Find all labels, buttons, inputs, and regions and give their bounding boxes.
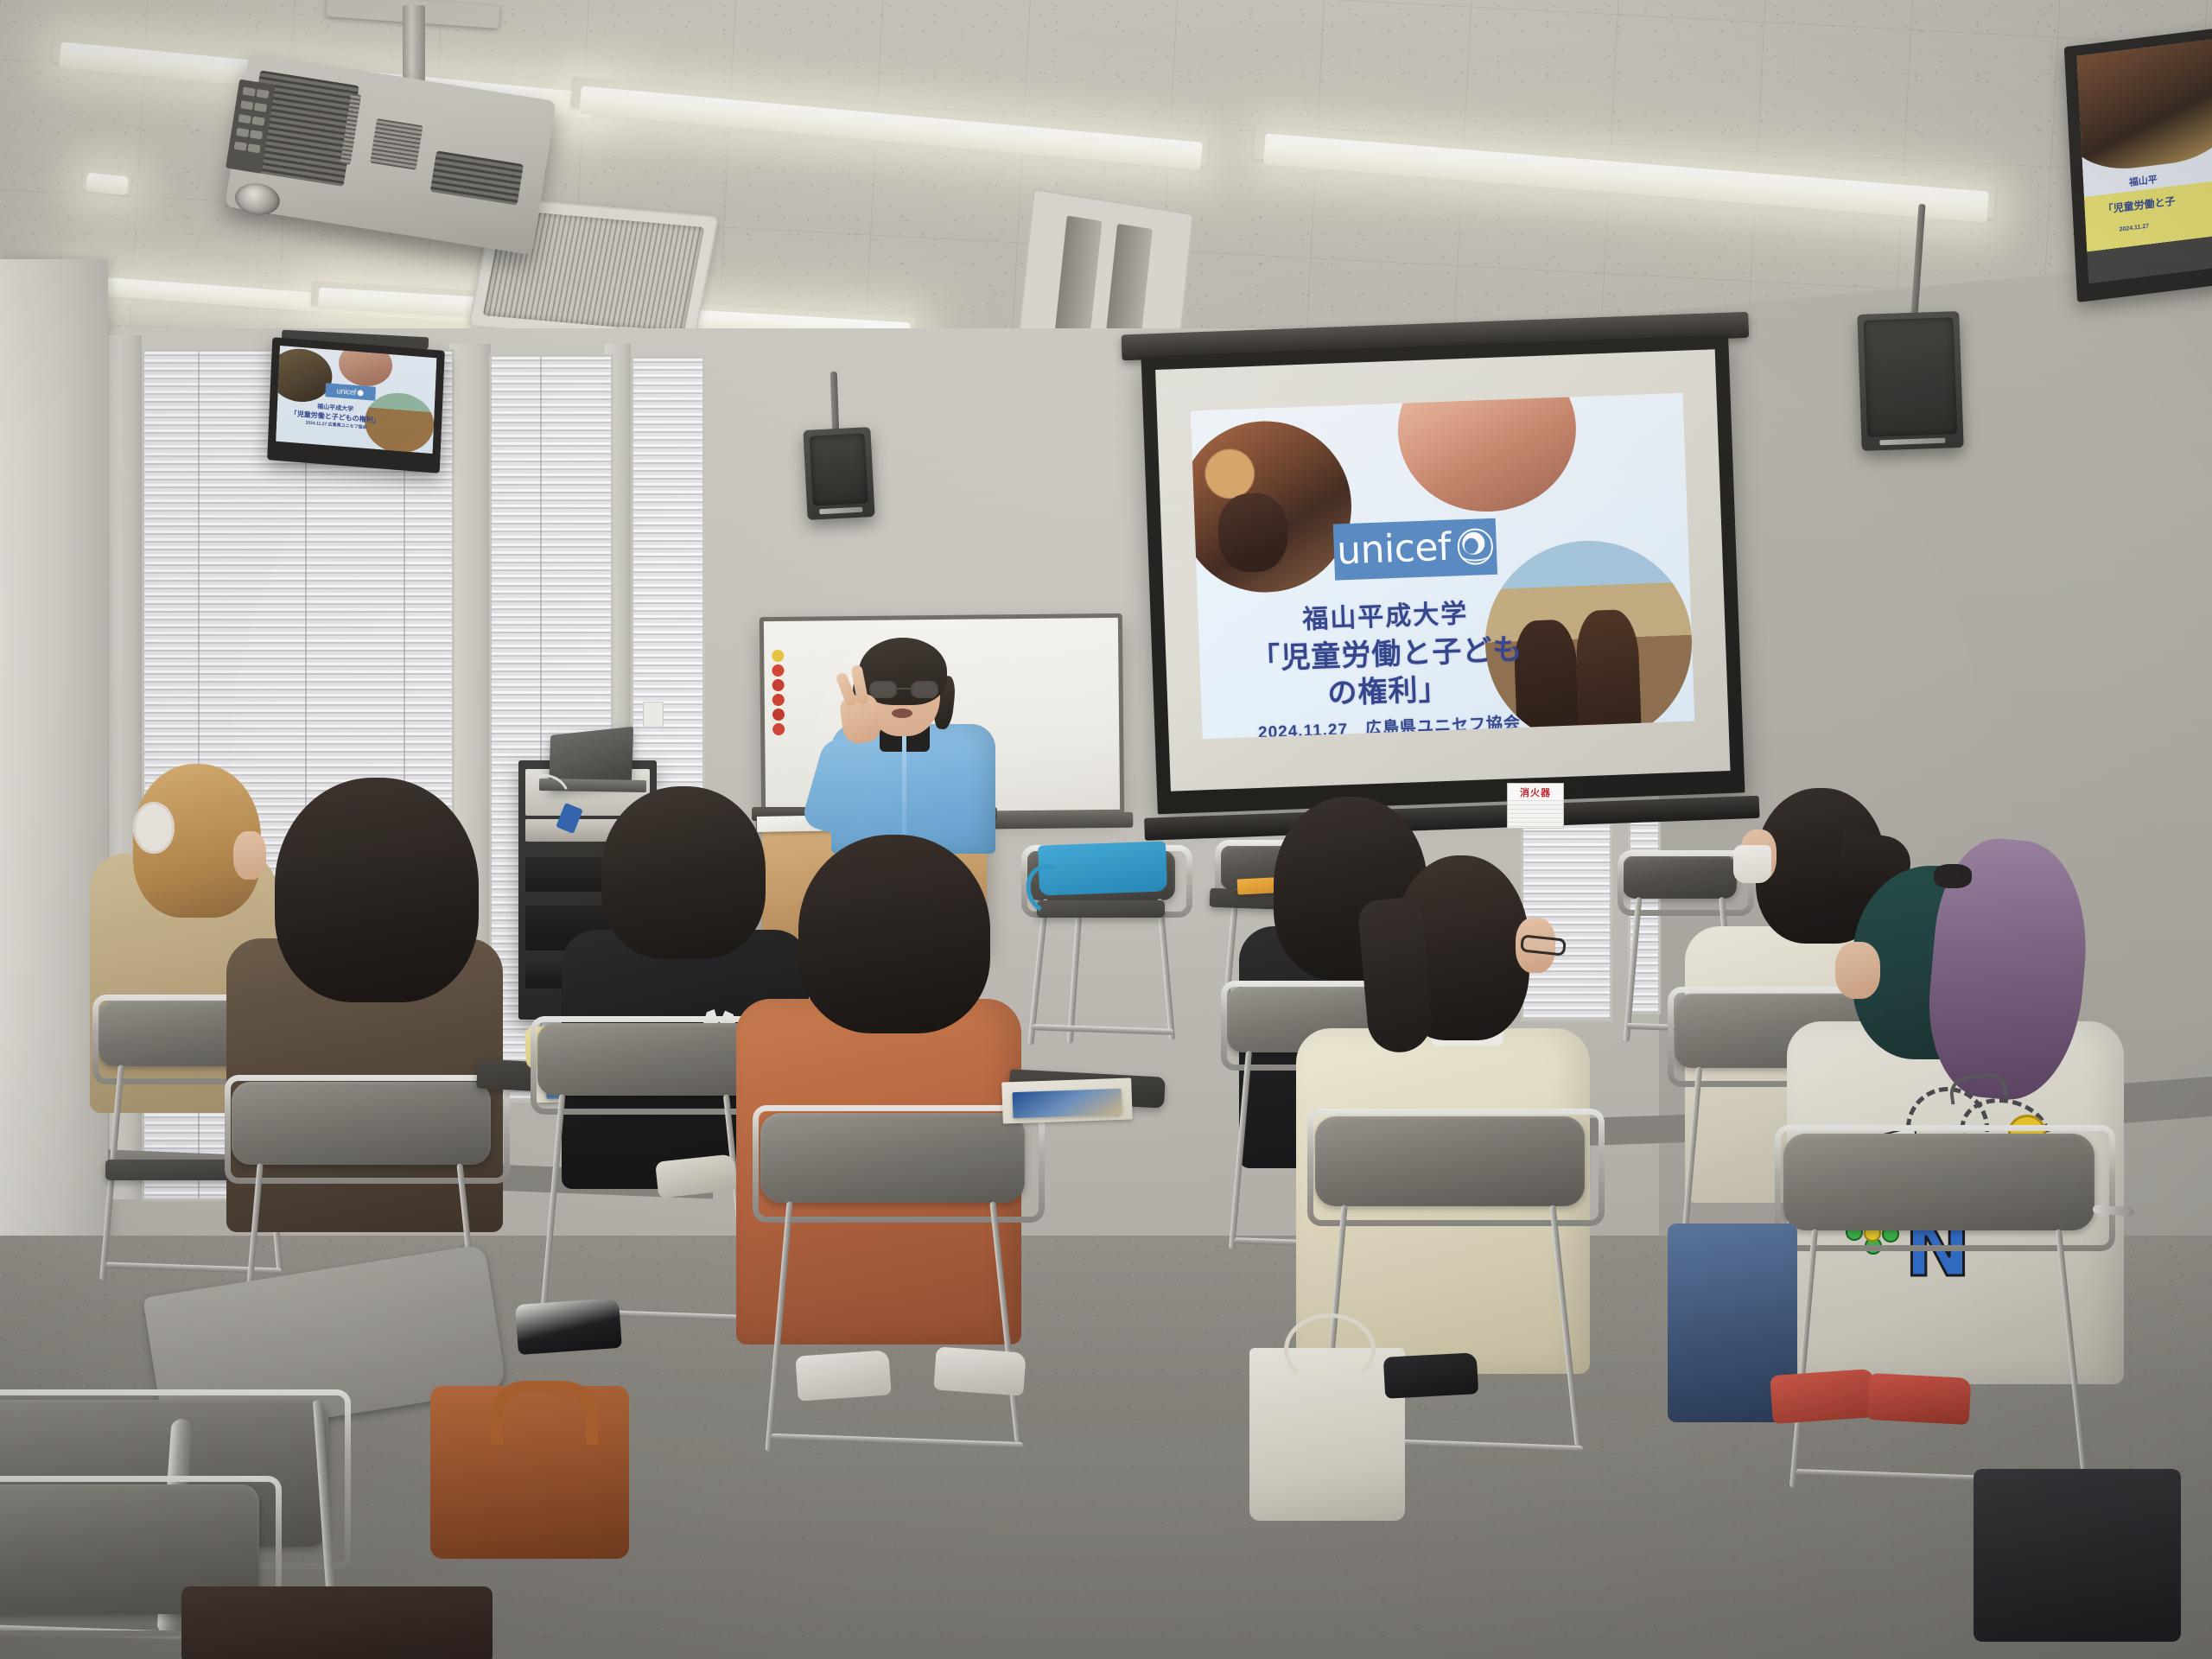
foreground-shoe bbox=[515, 1298, 622, 1355]
monitor-screen-right: 福山平 「児童労働と子 2024.11.27 bbox=[2076, 37, 2212, 283]
monitor-title-right: 福山平 bbox=[2129, 165, 2212, 190]
wall-outlet[interactable] bbox=[643, 702, 664, 728]
ceiling-speaker-center bbox=[803, 427, 874, 520]
fire-extinguisher-sign: 消火器 bbox=[1507, 783, 1564, 802]
student-6-ponytail bbox=[1357, 896, 1433, 1055]
slide-date-organization: 2024.11.27 広島県ユニセフ協会 bbox=[1246, 713, 1532, 740]
white-tote-handle bbox=[1284, 1313, 1376, 1386]
projector-exhaust-vent bbox=[370, 118, 423, 170]
black-backpack[interactable] bbox=[1974, 1469, 2181, 1642]
classroom-photo: unicef 福山平成大学 「児童労働と子どもの権利」 2024.11.27 広… bbox=[0, 0, 2212, 1659]
monitor-unicef-logo-left: unicef bbox=[325, 383, 376, 401]
slide-title-block: 福山平成大学 「児童労働と子どもの権利」 2024.11.27 広島県ユニセフ協… bbox=[1242, 596, 1532, 740]
fire-extinguisher-sign-body bbox=[1507, 800, 1564, 829]
student-1-hair-clip bbox=[133, 802, 175, 854]
student-3-hair bbox=[601, 786, 766, 959]
projector-pole bbox=[403, 5, 425, 85]
presenter-mouth bbox=[892, 709, 912, 718]
student-1-face bbox=[233, 831, 266, 880]
ceiling-speaker-right bbox=[1857, 311, 1963, 451]
monitor-subtitle-right: 「児童労働と子 bbox=[2102, 188, 2212, 217]
monitor-unicef-emblem-left bbox=[358, 390, 364, 397]
student-4-shoe-left bbox=[795, 1350, 891, 1401]
student-8-face bbox=[1835, 942, 1880, 999]
wall-monitor-right: 福山平 「児童労働と子 2024.11.27 bbox=[2064, 26, 2212, 302]
screen-surface: unicef 福山平成大学 「児童労働と子どもの権利」 2024.11.27 広… bbox=[1155, 349, 1730, 791]
monitor-slide-right: 福山平 「児童労働と子 2024.11.27 bbox=[2076, 37, 2212, 283]
presenter-glasses bbox=[869, 681, 938, 698]
monitor-unicef-wordmark-left: unicef bbox=[337, 386, 357, 397]
foreground-dark-bag[interactable] bbox=[181, 1586, 493, 1659]
student-2-hair bbox=[275, 778, 479, 1002]
student-6-shoe bbox=[1383, 1352, 1478, 1399]
student-7-face-mask bbox=[1733, 845, 1771, 883]
monitor-slide-left: unicef 福山平成大学 「児童労働と子どもの権利」 2024.11.27 広… bbox=[276, 346, 436, 454]
presenter bbox=[812, 638, 1011, 836]
speaker-brand-label-right bbox=[1880, 438, 1946, 446]
unicef-logo: unicef bbox=[1332, 518, 1497, 581]
speaker-brand-label-center bbox=[819, 507, 862, 515]
unicef-globe-emblem-icon bbox=[1457, 528, 1494, 565]
slide-lecture-title: 「児童労働と子どもの権利」 bbox=[1243, 631, 1532, 716]
presentation-slide: unicef 福山平成大学 「児童労働と子どもの権利」 2024.11.27 広… bbox=[1191, 392, 1695, 739]
speaker-cone-right bbox=[1864, 317, 1958, 437]
monitor-caption-right: 2024.11.27 bbox=[2119, 214, 2212, 235]
speaker-cone-center bbox=[810, 433, 868, 505]
slide-photo-mother-child bbox=[1191, 418, 1355, 595]
slide-photo-infant bbox=[1395, 392, 1579, 514]
student-8-shoe-right bbox=[1867, 1373, 1972, 1425]
whiteboard-magnets[interactable] bbox=[772, 650, 785, 738]
student-4-hair bbox=[798, 835, 990, 1033]
projection-screen: unicef 福山平成大学 「児童労働と子どもの権利」 2024.11.27 広… bbox=[1141, 335, 1745, 815]
student-8-hair-tie bbox=[1934, 864, 1972, 888]
unicef-wordmark: unicef bbox=[1336, 529, 1451, 571]
student-8-shoe-left bbox=[1770, 1369, 1877, 1424]
monitor-screen-left: unicef 福山平成大学 「児童労働と子どもの権利」 2024.11.27 広… bbox=[276, 346, 436, 454]
screen-border: unicef 福山平成大学 「児童労働と子どもの権利」 2024.11.27 広… bbox=[1141, 335, 1745, 815]
presenter-jacket-zipper bbox=[902, 734, 906, 838]
pamphlet-2-cover[interactable] bbox=[1013, 1089, 1122, 1118]
rust-bag-handle bbox=[491, 1381, 598, 1445]
student-4-shoe-right bbox=[933, 1346, 1026, 1395]
projector-rear-vent bbox=[430, 150, 524, 205]
wall-monitor-left: unicef 福山平成大学 「児童労働と子どもの権利」 2024.11.27 広… bbox=[267, 337, 445, 474]
